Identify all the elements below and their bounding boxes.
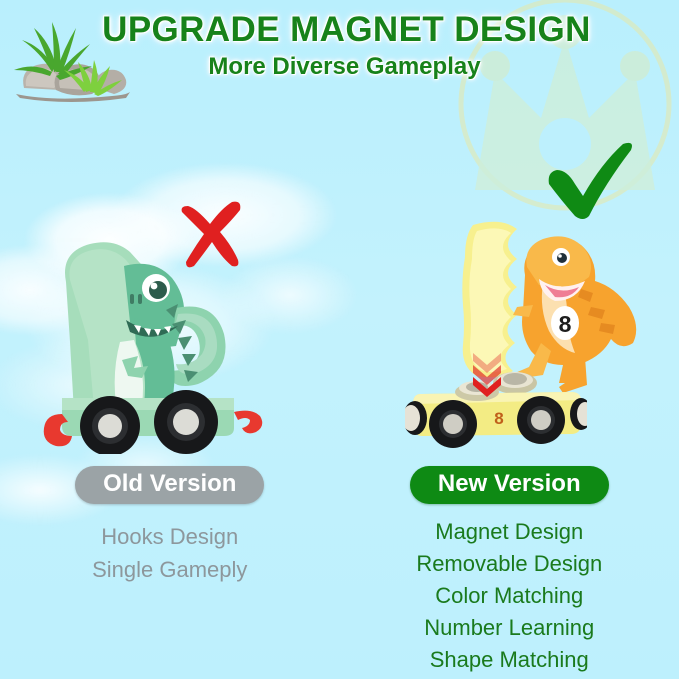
list-item: Shape Matching [416,644,602,676]
product-infographic: UPGRADE MAGNET DESIGN More Diverse Gamep… [0,0,679,679]
list-item: Number Learning [416,612,602,644]
old-version-column: Old Version Hooks Design Single Gameply [0,466,340,679]
green-check-icon [543,142,635,220]
new-version-column: New Version Magnet Design Removable Desi… [340,466,679,679]
old-version-feature-list: Hooks Design Single Gameply [92,520,247,586]
plants-rocks-icon [6,16,136,104]
list-item: Hooks Design [92,520,247,553]
old-version-badge: Old Version [75,466,264,504]
red-x-icon [176,198,248,270]
figure-number: 8 [559,311,572,337]
cart-number: 8 [494,409,503,428]
list-item: Magnet Design [416,516,602,548]
down-chevrons-icon [470,350,504,398]
list-item: Single Gameply [92,553,247,586]
list-item: Removable Design [416,548,602,580]
new-version-badge: New Version [410,466,609,504]
new-version-feature-list: Magnet Design Removable Design Color Mat… [416,516,602,676]
comparison-section: Old Version Hooks Design Single Gameply … [0,466,679,679]
list-item: Color Matching [416,580,602,612]
